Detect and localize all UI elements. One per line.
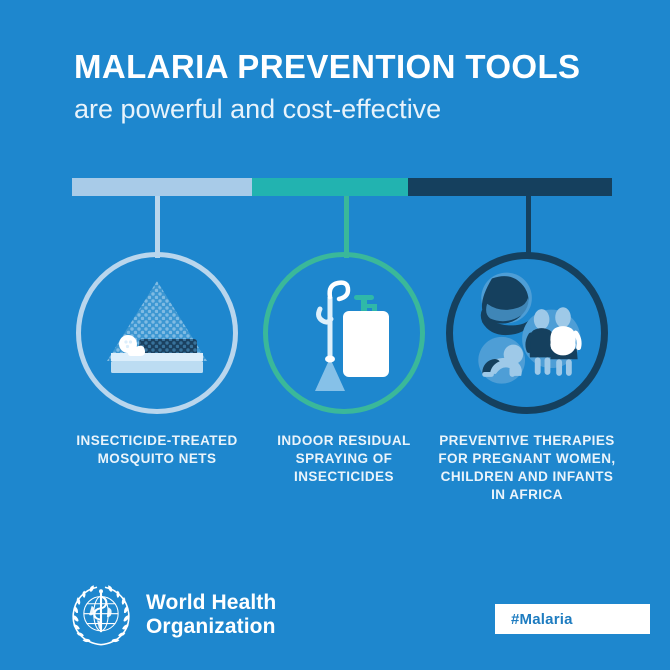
circle-mosquito-nets	[76, 252, 238, 414]
insecticide-sprayer-icon	[268, 257, 420, 409]
hashtag-badge[interactable]: #Malaria	[495, 604, 650, 634]
circle-indoor-spraying	[263, 252, 425, 414]
who-name-line1: World Health	[146, 591, 276, 615]
column-preventive-therapies: PREVENTIVE THERAPIES FOR PREGNANT WOMEN,…	[434, 252, 620, 504]
caption-indoor-spraying: INDOOR RESIDUAL SPRAYING OF INSECTICIDES	[251, 432, 437, 486]
bar-segment-nets	[72, 178, 252, 196]
hashtag-label: #Malaria	[495, 611, 573, 628]
pregnant-woman-children-icon	[453, 259, 601, 407]
connector-line-nets	[155, 196, 160, 258]
column-indoor-spraying: INDOOR RESIDUAL SPRAYING OF INSECTICIDES	[251, 252, 437, 486]
who-emblem-icon	[68, 582, 134, 648]
circle-preventive-therapies	[446, 252, 608, 414]
who-logo: World Health Organization	[68, 582, 276, 648]
caption-preventive-therapies: PREVENTIVE THERAPIES FOR PREGNANT WOMEN,…	[434, 432, 620, 504]
who-wordmark: World Health Organization	[146, 591, 276, 639]
caption-mosquito-nets: INSECTICIDE-TREATED MOSQUITO NETS	[64, 432, 250, 468]
bar-segment-spraying	[252, 178, 408, 196]
connector-line-therapies	[526, 196, 531, 258]
page-subtitle: are powerful and cost-effective	[74, 92, 634, 126]
who-name-line2: Organization	[146, 615, 276, 639]
column-mosquito-nets: INSECTICIDE-TREATED MOSQUITO NETS	[64, 252, 250, 468]
infographic-canvas: MALARIA PREVENTION TOOLS are powerful an…	[0, 0, 670, 670]
header: MALARIA PREVENTION TOOLS are powerful an…	[74, 48, 634, 126]
segment-bar	[72, 178, 612, 196]
mosquito-net-icon	[81, 257, 233, 409]
bar-segment-therapies	[408, 178, 612, 196]
page-title: MALARIA PREVENTION TOOLS	[74, 48, 634, 86]
connector-line-spraying	[344, 196, 349, 258]
